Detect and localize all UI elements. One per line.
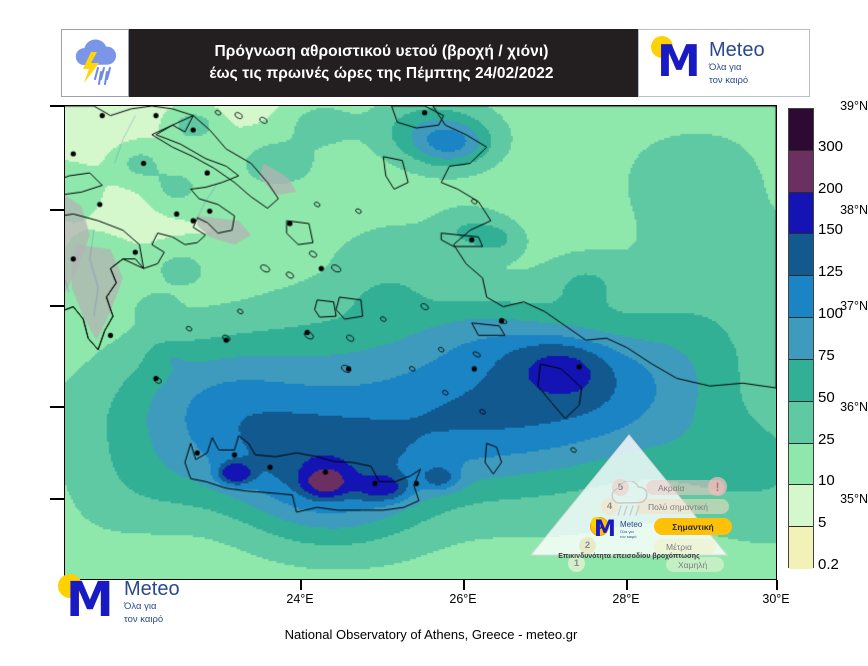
- y-axis-label-35n: 35°N: [812, 492, 868, 506]
- meteo-logo-footer[interactable]: M Meteo Όλα για τον καιρό: [62, 578, 180, 626]
- colorbar-tick-200: 200: [818, 181, 843, 196]
- x-axis-tick: [626, 580, 628, 590]
- y-axis-tick: [50, 498, 64, 500]
- meteo-logo-header[interactable]: M Meteo Όλα για τον καιρό: [638, 29, 810, 97]
- weather-map-page: 39°N 38°N 37°N 36°N 35°N 24°E 26°E 28°E …: [0, 0, 868, 666]
- y-axis-tick: [50, 209, 64, 211]
- meteo-logo-tagline-2: τον καιρό: [124, 614, 180, 625]
- x-axis-label-24e: 24°E: [270, 592, 330, 606]
- meteo-logo-tagline-2: τον καιρό: [709, 75, 765, 86]
- precipitation-map[interactable]: [64, 105, 777, 580]
- colorbar-band-100: [789, 276, 813, 318]
- meteo-logo-mark: M: [653, 39, 705, 87]
- meteo-logo-letter: M: [657, 42, 699, 82]
- y-axis-tick: [50, 406, 64, 408]
- page-title: Πρόγνωση αθροιστικού υετού (βροχή / χιόν…: [129, 41, 638, 86]
- colorbar-tick-50: 50: [818, 390, 835, 405]
- colorbar-band-25: [789, 402, 813, 444]
- meteo-logo-name: Meteo: [709, 40, 765, 60]
- colorbar-tick-10: 10: [818, 473, 835, 488]
- x-axis-tick: [463, 580, 465, 590]
- colorbar-tick-100: 100: [818, 306, 843, 321]
- y-axis-label-39n: 39°N: [812, 99, 868, 113]
- y-axis-tick: [50, 305, 64, 307]
- colorbar-band-10: [789, 444, 813, 486]
- map-title-bar: Πρόγνωση αθροιστικού υετού (βροχή / χιόν…: [61, 29, 638, 97]
- colorbar-tick-25: 25: [818, 432, 835, 447]
- y-axis-tick: [50, 105, 64, 107]
- x-axis-label-30e: 30°E: [746, 592, 806, 606]
- x-axis-tick: [776, 580, 778, 590]
- colorbar-band-125: [789, 234, 813, 276]
- title-line-2: έως τις πρωινές ώρες της Πέμπτης 24/02/2…: [131, 63, 632, 85]
- colorbar-tick-75: 75: [818, 348, 835, 363]
- precipitation-field-canvas: [65, 106, 776, 579]
- title-line-1: Πρόγνωση αθροιστικού υετού (βροχή / χιόν…: [214, 43, 548, 60]
- meteo-logo-letter: M: [66, 578, 112, 622]
- colorbar-tick-150: 150: [818, 222, 843, 237]
- footer-credit: National Observatory of Athens, Greece -…: [0, 627, 868, 642]
- x-axis-label-26e: 26°E: [433, 592, 493, 606]
- thunderstorm-rain-icon: [70, 39, 122, 89]
- precipitation-colorbar[interactable]: [788, 108, 814, 568]
- colorbar-tick-0.2: 0.2: [818, 557, 839, 572]
- weather-icon-box: [61, 29, 129, 97]
- meteo-logo-tagline-1: Όλα για: [709, 62, 765, 73]
- colorbar-band-0.2: [789, 527, 813, 569]
- meteo-logo-name: Meteo: [124, 579, 180, 599]
- x-axis-tick: [300, 580, 302, 590]
- colorbar-band-150: [789, 193, 813, 235]
- colorbar-band-5: [789, 485, 813, 527]
- colorbar-band-200: [789, 151, 813, 193]
- colorbar-band-75: [789, 318, 813, 360]
- y-axis-label-38n: 38°N: [812, 203, 868, 217]
- colorbar-tick-5: 5: [818, 515, 826, 530]
- meteo-logo-tagline-1: Όλα για: [124, 601, 180, 612]
- x-axis-label-28e: 28°E: [596, 592, 656, 606]
- colorbar-tick-125: 125: [818, 264, 843, 279]
- colorbar-tick-300: 300: [818, 139, 843, 154]
- colorbar-band-50: [789, 360, 813, 402]
- meteo-logo-mark: M: [62, 578, 118, 626]
- colorbar-band-300: [789, 109, 813, 151]
